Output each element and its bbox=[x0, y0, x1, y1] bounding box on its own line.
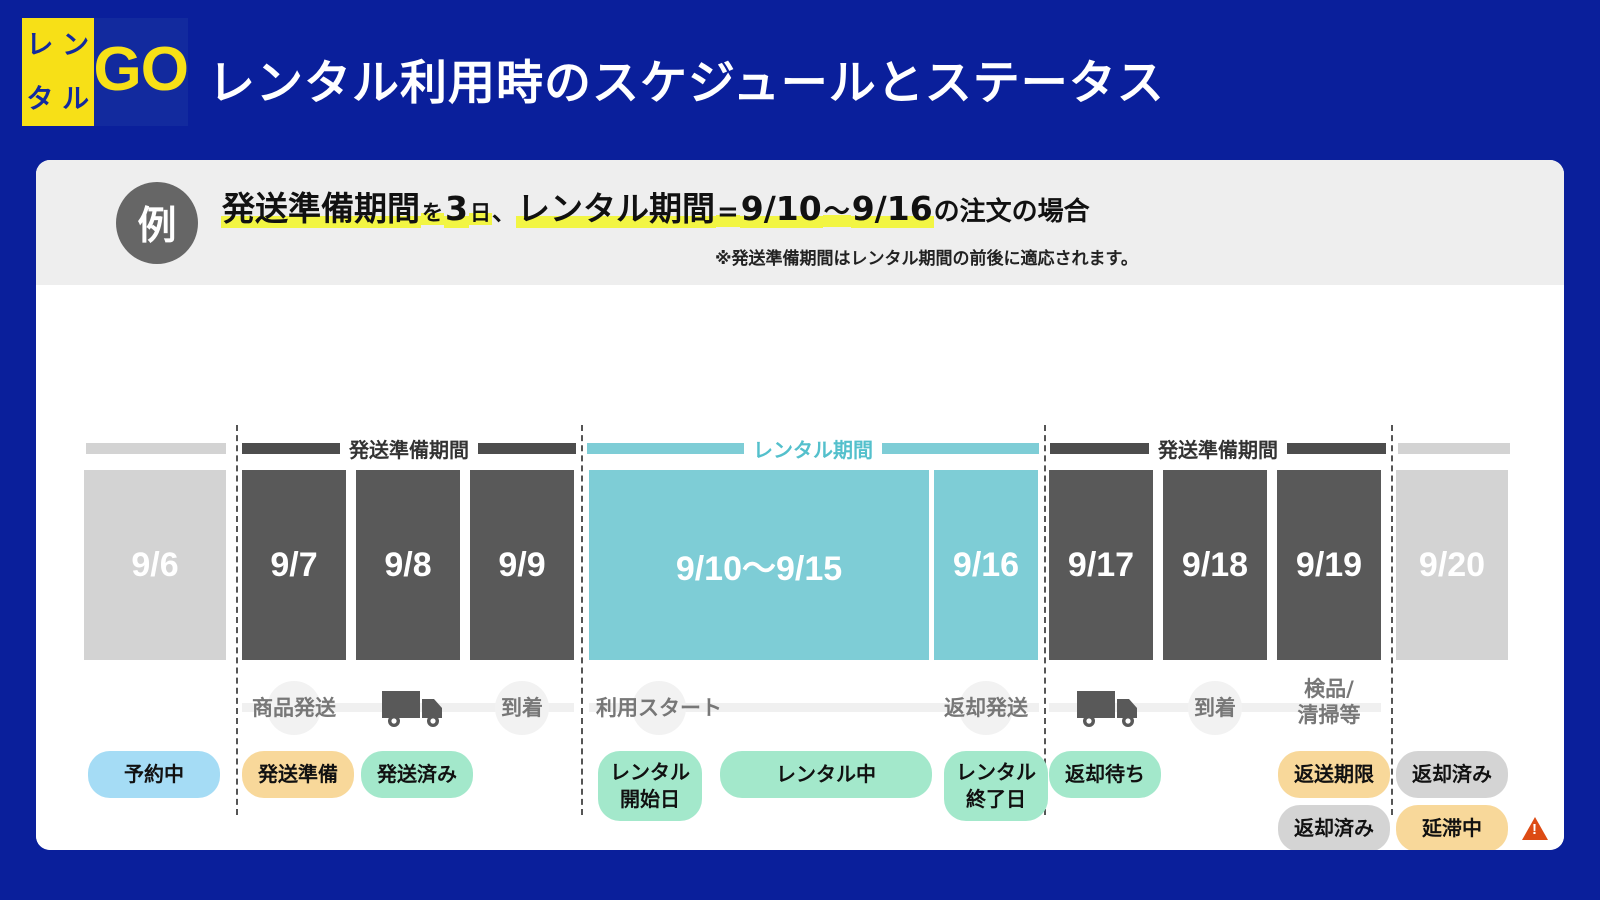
date-box-0906[interactable]: 9/6 bbox=[84, 470, 226, 660]
page-title: レンタル利用時のスケジュールとステータス bbox=[208, 44, 1165, 113]
logo-char-3: タ bbox=[26, 86, 53, 113]
status-badge-line2: 終了日 bbox=[966, 786, 1026, 813]
page-header: レ ン タ ル GO レンタル利用時のスケジュールとステータス bbox=[0, 0, 1600, 140]
date-box-0917[interactable]: 9/17 bbox=[1049, 470, 1153, 660]
period-group-rental: レンタル期間 bbox=[587, 433, 1039, 463]
logo-char-4: ル bbox=[62, 86, 89, 113]
status-badge-return-deadline[interactable]: 返送期限 bbox=[1278, 751, 1390, 798]
date-box-0919[interactable]: 9/19 bbox=[1277, 470, 1381, 660]
status-badge-rental-start-date[interactable]: レンタル 開始日 bbox=[598, 751, 702, 821]
logo-char-1: レ bbox=[26, 32, 53, 59]
period-bar-right bbox=[478, 443, 576, 454]
period-bar-right-edge bbox=[1398, 443, 1510, 454]
event-label-arrival-1: 到着 bbox=[501, 696, 543, 721]
date-box-0916[interactable]: 9/16 bbox=[934, 470, 1038, 660]
example-sentence: 発送準備期間を3日、レンタル期間=9/10～9/16の注文の場合 bbox=[221, 185, 1501, 237]
period-bar-left bbox=[587, 443, 744, 454]
event-item-arrival-2: 到着 bbox=[1163, 681, 1267, 735]
period-bar-left bbox=[242, 443, 340, 454]
logo-go-text: GO bbox=[94, 18, 188, 126]
status-badge-renting[interactable]: レンタル中 bbox=[720, 751, 932, 798]
period-bar-right bbox=[1287, 443, 1386, 454]
date-box-0909[interactable]: 9/9 bbox=[470, 470, 574, 660]
content-card: 例 発送準備期間を3日、レンタル期間=9/10～9/16の注文の場合 ※発送準備… bbox=[36, 160, 1564, 850]
event-label-shipment: 商品発送 bbox=[252, 696, 336, 721]
event-label-use-start: 利用スタート bbox=[596, 696, 722, 721]
date-boxes-row: 9/6 9/7 9/8 9/9 9/10～9/15 9/16 9/17 9/18… bbox=[36, 470, 1564, 660]
truck-icon bbox=[381, 685, 451, 729]
timeline: 発送準備期間 レンタル期間 発送準備期間 9/6 9/7 9/8 9/9 9/1… bbox=[36, 285, 1564, 850]
period-bar-left-edge bbox=[86, 443, 226, 454]
example-part-days-num: 3 bbox=[444, 189, 469, 228]
event-label-return-shipment: 返却発送 bbox=[944, 696, 1028, 721]
example-badge: 例 bbox=[116, 182, 198, 264]
example-part-comma: 、 bbox=[492, 198, 516, 226]
status-badge-returned-mid[interactable]: 返却済み bbox=[1278, 805, 1390, 850]
status-badges-row: 予約中 発送準備 発送済み レンタル 開始日 レンタル中 レンタル 終了日 発送… bbox=[36, 751, 1564, 850]
status-badge-rental-end-date[interactable]: レンタル 終了日 bbox=[944, 751, 1048, 821]
truck-icon bbox=[1076, 685, 1146, 729]
period-group-prep-pre: 発送準備期間 bbox=[242, 433, 576, 463]
event-item-inspection: 検品/ 清掃等 bbox=[1277, 671, 1381, 733]
example-part-prep-period: 発送準備期間 bbox=[221, 189, 421, 228]
logo-square: レ ン タ ル bbox=[22, 18, 94, 126]
event-label-arrival-2: 到着 bbox=[1194, 696, 1236, 721]
event-item-arrival-1: 到着 bbox=[470, 681, 574, 735]
date-box-0918[interactable]: 9/18 bbox=[1163, 470, 1267, 660]
event-label-inspection: 検品/ 清掃等 bbox=[1298, 676, 1361, 728]
example-banner: 例 発送準備期間を3日、レンタル期間=9/10～9/16の注文の場合 ※発送準備… bbox=[36, 160, 1564, 285]
period-bar-left bbox=[1050, 443, 1149, 454]
event-label-inspection-line2: 清掃等 bbox=[1298, 702, 1361, 728]
status-badge-awaiting-return[interactable]: 返却待ち bbox=[1049, 751, 1161, 798]
example-part-tilde: ～ bbox=[823, 197, 851, 227]
event-label-inspection-line1: 検品/ bbox=[1298, 676, 1361, 702]
example-part-end-date: 9/16 bbox=[851, 189, 934, 228]
event-item-return-shipment: 返却発送 bbox=[934, 681, 1038, 735]
period-label-prep-post: 発送準備期間 bbox=[1149, 434, 1287, 463]
example-note: ※発送準備期間はレンタル期間の前後に適応されます。 bbox=[221, 244, 1501, 269]
date-box-0907[interactable]: 9/7 bbox=[242, 470, 346, 660]
date-box-0908[interactable]: 9/8 bbox=[356, 470, 460, 660]
status-badge-preparing[interactable]: 発送準備 bbox=[242, 751, 354, 798]
event-item-use-start: 利用スタート bbox=[589, 681, 729, 735]
period-bar-right bbox=[882, 443, 1039, 454]
status-badge-overdue[interactable]: 延滞中 bbox=[1396, 805, 1508, 850]
period-bars-row: 発送準備期間 レンタル期間 発送準備期間 bbox=[36, 433, 1564, 463]
status-badge-line1: レンタル bbox=[610, 759, 690, 786]
example-part-rental-period: レンタル期間 bbox=[516, 189, 716, 228]
date-box-0920[interactable]: 9/20 bbox=[1396, 470, 1508, 660]
example-text-block: 発送準備期間を3日、レンタル期間=9/10～9/16の注文の場合 ※発送準備期間… bbox=[221, 185, 1501, 269]
status-badge-line1: レンタル bbox=[956, 759, 1036, 786]
date-box-0910-0915[interactable]: 9/10～9/15 bbox=[589, 470, 929, 660]
example-part-days-unit: 日 bbox=[469, 201, 492, 225]
example-part-equals: = bbox=[716, 197, 740, 227]
example-part-start-date: 9/10 bbox=[740, 189, 823, 228]
warning-icon-overdue bbox=[1522, 817, 1548, 840]
logo: レ ン タ ル GO bbox=[22, 18, 188, 126]
status-badge-reserved[interactable]: 予約中 bbox=[88, 751, 220, 798]
event-item-shipment: 商品発送 bbox=[242, 681, 346, 735]
status-badge-shipped[interactable]: 発送済み bbox=[361, 751, 473, 798]
period-label-rental: レンタル期間 bbox=[744, 434, 882, 463]
status-badge-returned-right[interactable]: 返却済み bbox=[1396, 751, 1508, 798]
example-part-tail: の注文の場合 bbox=[934, 197, 1090, 227]
period-group-prep-post: 発送準備期間 bbox=[1050, 433, 1386, 463]
status-badge-line2: 開始日 bbox=[620, 786, 680, 813]
example-part-wo: を bbox=[421, 201, 444, 225]
event-labels-row: 商品発送 到着 利用スタート 返却発送 bbox=[36, 677, 1564, 747]
period-label-prep-pre: 発送準備期間 bbox=[340, 434, 478, 463]
logo-char-2: ン bbox=[62, 32, 89, 59]
